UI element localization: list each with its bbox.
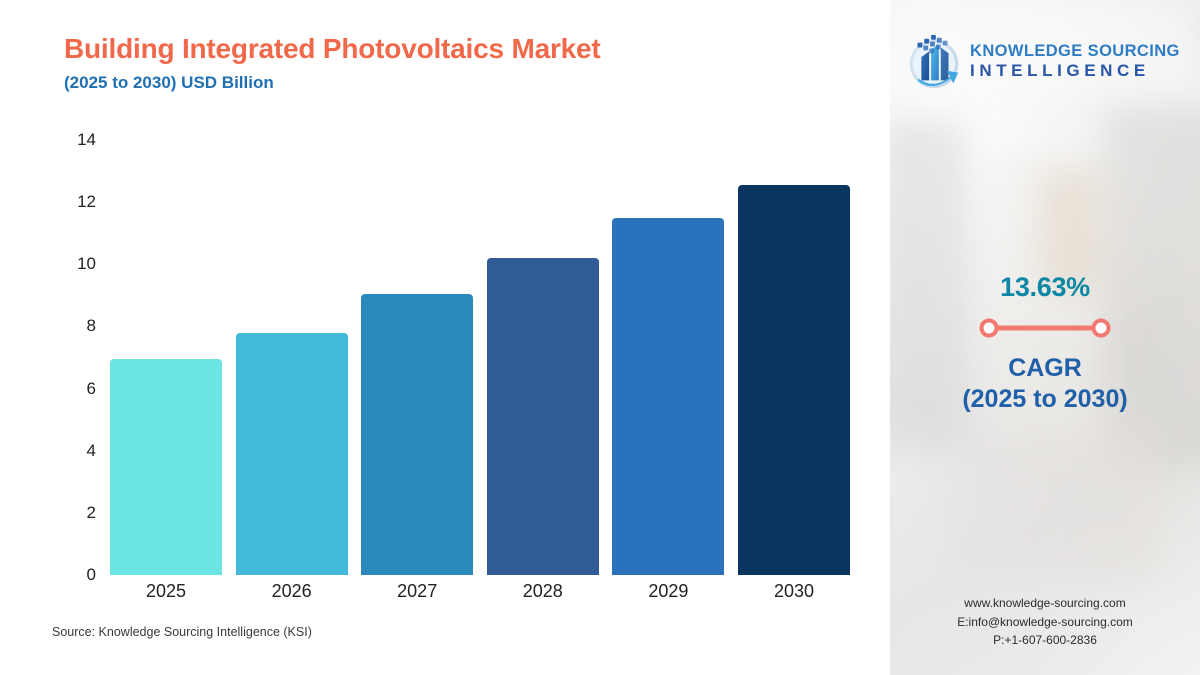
x-axis-tick: 2026 bbox=[272, 581, 312, 602]
x-axis-tick: 2030 bbox=[774, 581, 814, 602]
bar-2025[interactable] bbox=[110, 359, 222, 575]
y-axis-tick: 0 bbox=[87, 565, 96, 585]
bar-slot: 2027 bbox=[361, 140, 473, 575]
contact-phone[interactable]: P:+1-607-600-2836 bbox=[890, 631, 1200, 650]
bar-2026[interactable] bbox=[236, 333, 348, 575]
cagr-range: (2025 to 2030) bbox=[890, 384, 1200, 415]
contact-email[interactable]: E:info@knowledge-sourcing.com bbox=[890, 613, 1200, 632]
page-subtitle: (2025 to 2030) USD Billion bbox=[64, 73, 274, 93]
y-axis-tick: 4 bbox=[87, 441, 96, 461]
bar-2027[interactable] bbox=[361, 294, 473, 575]
y-axis-tick: 10 bbox=[77, 254, 96, 274]
bar-2030[interactable] bbox=[738, 185, 850, 575]
x-axis-tick: 2027 bbox=[397, 581, 437, 602]
brand-panel: KNOWLEDGE SOURCING INTELLIGENCE 13.63% C… bbox=[890, 0, 1200, 675]
knowledge-sourcing-logo-icon bbox=[902, 30, 964, 92]
bar-slot: 2030 bbox=[738, 140, 850, 575]
contact-block: www.knowledge-sourcing.com E:info@knowle… bbox=[890, 594, 1200, 650]
brand-logo: KNOWLEDGE SOURCING INTELLIGENCE bbox=[902, 26, 1192, 96]
y-axis-tick: 8 bbox=[87, 316, 96, 336]
x-axis-tick: 2028 bbox=[523, 581, 563, 602]
page-title: Building Integrated Photovoltaics Market bbox=[64, 33, 601, 65]
bar-slot: 2026 bbox=[236, 140, 348, 575]
y-axis-tick: 2 bbox=[87, 503, 96, 523]
logo-line-2: INTELLIGENCE bbox=[970, 62, 1180, 79]
x-axis-tick: 2029 bbox=[648, 581, 688, 602]
logo-line-1: KNOWLEDGE SOURCING bbox=[970, 43, 1180, 60]
y-axis-tick: 12 bbox=[77, 192, 96, 212]
cagr-label: CAGR bbox=[890, 353, 1200, 384]
bar-slot: 2028 bbox=[487, 140, 599, 575]
source-note: Source: Knowledge Sourcing Intelligence … bbox=[52, 625, 312, 639]
bar-slot: 2025 bbox=[110, 140, 222, 575]
x-axis-tick: 2025 bbox=[146, 581, 186, 602]
y-axis-tick: 14 bbox=[77, 130, 96, 150]
bar-series: 202520262027202820292030 bbox=[110, 140, 850, 575]
bar-slot: 2029 bbox=[612, 140, 724, 575]
cagr-percent: 13.63% bbox=[890, 272, 1200, 303]
y-axis-tick: 6 bbox=[87, 379, 96, 399]
infographic-canvas: Building Integrated Photovoltaics Market… bbox=[0, 0, 1200, 675]
bar-2029[interactable] bbox=[612, 218, 724, 575]
contact-website[interactable]: www.knowledge-sourcing.com bbox=[890, 594, 1200, 613]
chart-panel: Building Integrated Photovoltaics Market… bbox=[0, 0, 890, 675]
bar-2028[interactable] bbox=[487, 258, 599, 575]
plot-area: 02468101214 202520262027202820292030 bbox=[110, 140, 850, 575]
cagr-block: 13.63% CAGR (2025 to 2030) bbox=[890, 272, 1200, 414]
dumbbell-divider-icon bbox=[975, 317, 1115, 339]
